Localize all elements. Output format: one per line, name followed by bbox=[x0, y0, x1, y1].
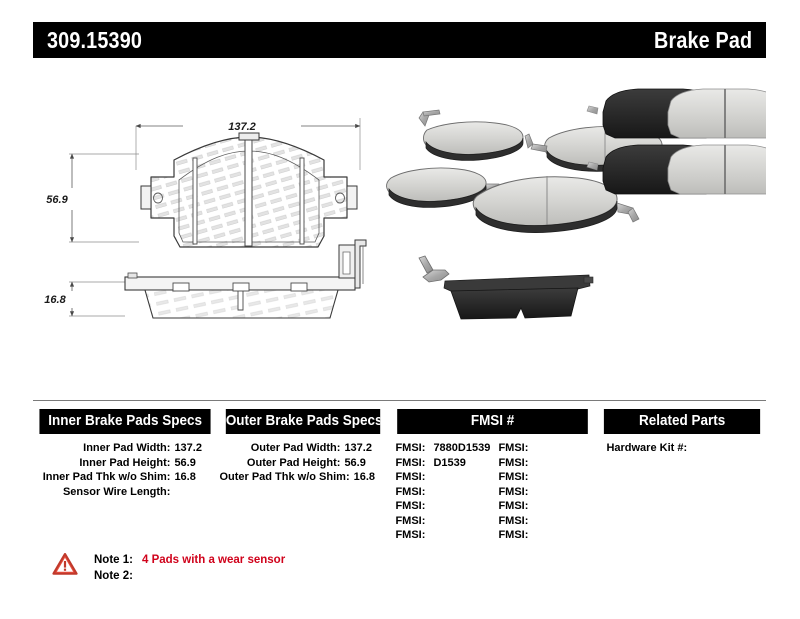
fmsi-value bbox=[536, 456, 595, 471]
fmsi-label: FMSI: bbox=[395, 485, 433, 500]
spec-value: 137.2 bbox=[174, 441, 216, 456]
spec-label: Outer Pad Height: bbox=[219, 456, 344, 471]
title-bar: 309.15390 Brake Pad bbox=[33, 22, 766, 58]
specifications-table: Inner Brake Pads Specs Outer Brake Pads … bbox=[33, 400, 766, 543]
product-photo-edge-profile bbox=[419, 256, 593, 319]
spec-row: Inner Pad Height: 56.9 bbox=[33, 456, 216, 471]
column-header-related-parts: Related Parts bbox=[604, 409, 761, 434]
spec-label: Inner Pad Height: bbox=[33, 456, 174, 471]
spec-row: Inner Pad Width: 137.2 bbox=[33, 441, 216, 456]
dimension-thickness-label: 16.8 bbox=[44, 294, 66, 306]
fmsi-label: FMSI: bbox=[498, 528, 536, 543]
warning-triangle-icon bbox=[52, 552, 78, 576]
fmsi-row: FMSI: bbox=[389, 514, 492, 529]
fmsi-row: FMSI: bbox=[492, 528, 595, 543]
fmsi-value bbox=[536, 470, 595, 485]
fmsi-value bbox=[433, 485, 492, 500]
fmsi-row: FMSI: bbox=[492, 514, 595, 529]
fmsi-value: 7880D1539 bbox=[433, 441, 492, 456]
spec-row: Outer Pad Thk w/o Shim: 16.8 bbox=[219, 470, 386, 485]
spec-row: Sensor Wire Length: bbox=[33, 485, 216, 500]
table-body-row: Inner Pad Width: 137.2 Inner Pad Height:… bbox=[33, 434, 766, 543]
fmsi-value bbox=[536, 441, 595, 456]
fmsi-subcolumn-right: FMSI: FMSI: FMSI: FMSI: bbox=[492, 441, 595, 543]
spec-value: 56.9 bbox=[174, 456, 216, 471]
fmsi-row: FMSI: bbox=[389, 499, 492, 514]
fmsi-row: FMSI: D1539 bbox=[389, 456, 492, 471]
notes-section: Note 1: 4 Pads with a wear sensor Note 2… bbox=[52, 552, 285, 584]
photo-pad-light-2 bbox=[668, 145, 766, 194]
spec-value bbox=[174, 485, 216, 500]
inner-specs-column: Inner Pad Width: 137.2 Inner Pad Height:… bbox=[33, 441, 216, 543]
fmsi-value bbox=[536, 528, 595, 543]
side-view-line-drawing: 16.8 bbox=[44, 240, 366, 318]
fmsi-label: FMSI: bbox=[395, 514, 433, 529]
related-part-row: Hardware Kit #: bbox=[598, 441, 766, 456]
fmsi-value bbox=[536, 499, 595, 514]
note-row-1: Note 1: 4 Pads with a wear sensor bbox=[94, 552, 285, 568]
column-header-fmsi: FMSI # bbox=[397, 409, 588, 434]
spec-label: Sensor Wire Length: bbox=[33, 485, 174, 500]
fmsi-row: FMSI: bbox=[389, 485, 492, 500]
spec-row: Outer Pad Width: 137.2 bbox=[219, 441, 386, 456]
photo-pad-light-1 bbox=[668, 89, 766, 138]
fmsi-value bbox=[536, 485, 595, 500]
outer-specs-column: Outer Pad Width: 137.2 Outer Pad Height:… bbox=[219, 441, 386, 543]
fmsi-value bbox=[433, 499, 492, 514]
column-header-outer-specs: Outer Brake Pads Specs bbox=[226, 409, 381, 434]
column-header-inner-specs: Inner Brake Pads Specs bbox=[39, 409, 210, 434]
note-1-value: 4 Pads with a wear sensor bbox=[142, 552, 285, 568]
product-type-title: Brake Pad bbox=[654, 27, 752, 54]
fmsi-subcolumn-left: FMSI: 7880D1539 FMSI: D1539 FMSI: FMSI: bbox=[389, 441, 492, 543]
fmsi-row: FMSI: bbox=[492, 441, 595, 456]
note-row-2: Note 2: bbox=[94, 568, 285, 584]
fmsi-label: FMSI: bbox=[395, 456, 433, 471]
dimension-width-label: 137.2 bbox=[228, 121, 256, 133]
fmsi-column: FMSI: 7880D1539 FMSI: D1539 FMSI: FMSI: bbox=[389, 441, 595, 543]
spec-value: 137.2 bbox=[344, 441, 386, 456]
dimension-width: 137.2 bbox=[136, 121, 360, 133]
spec-row: Outer Pad Height: 56.9 bbox=[219, 456, 386, 471]
notes-text-block: Note 1: 4 Pads with a wear sensor Note 2… bbox=[94, 552, 285, 584]
part-number: 309.15390 bbox=[47, 27, 142, 54]
fmsi-label: FMSI: bbox=[498, 499, 536, 514]
related-parts-column: Hardware Kit #: bbox=[598, 441, 766, 543]
dimension-thickness: 16.8 bbox=[44, 282, 72, 316]
fmsi-row: FMSI: bbox=[389, 470, 492, 485]
fmsi-label: FMSI: bbox=[498, 470, 536, 485]
fmsi-value: D1539 bbox=[433, 456, 492, 471]
dimension-height-label: 56.9 bbox=[46, 194, 68, 206]
fmsi-label: FMSI: bbox=[395, 528, 433, 543]
spec-value: 16.8 bbox=[174, 470, 216, 485]
fmsi-row: FMSI: bbox=[492, 456, 595, 471]
fmsi-value bbox=[433, 528, 492, 543]
fmsi-row: FMSI: bbox=[492, 499, 595, 514]
spec-label: Outer Pad Thk w/o Shim: bbox=[219, 470, 353, 485]
spec-label: Inner Pad Width: bbox=[33, 441, 174, 456]
fmsi-row: FMSI: 7880D1539 bbox=[389, 441, 492, 456]
fmsi-value bbox=[433, 514, 492, 529]
fmsi-label: FMSI: bbox=[498, 514, 536, 529]
fmsi-label: FMSI: bbox=[498, 485, 536, 500]
note-2-label: Note 2: bbox=[94, 568, 142, 584]
fmsi-label: FMSI: bbox=[395, 441, 433, 456]
note-1-label: Note 1: bbox=[94, 552, 142, 568]
fmsi-label: FMSI: bbox=[395, 470, 433, 485]
table-header-row: Inner Brake Pads Specs Outer Brake Pads … bbox=[33, 409, 766, 434]
fmsi-value bbox=[536, 514, 595, 529]
front-view-line-drawing: 137.2 56.9 bbox=[46, 118, 360, 247]
spec-label: Inner Pad Thk w/o Shim: bbox=[33, 470, 174, 485]
fmsi-row: FMSI: bbox=[492, 485, 595, 500]
spec-row: Inner Pad Thk w/o Shim: 16.8 bbox=[33, 470, 216, 485]
fmsi-label: FMSI: bbox=[498, 456, 536, 471]
fmsi-label: FMSI: bbox=[498, 441, 536, 456]
spec-label: Outer Pad Width: bbox=[219, 441, 344, 456]
fmsi-value bbox=[433, 470, 492, 485]
spec-value: 56.9 bbox=[344, 456, 386, 471]
fmsi-row: FMSI: bbox=[492, 470, 595, 485]
product-illustration-area: 137.2 56.9 bbox=[33, 70, 766, 388]
dimension-height: 56.9 bbox=[46, 154, 72, 242]
fmsi-row: FMSI: bbox=[389, 528, 492, 543]
fmsi-label: FMSI: bbox=[395, 499, 433, 514]
